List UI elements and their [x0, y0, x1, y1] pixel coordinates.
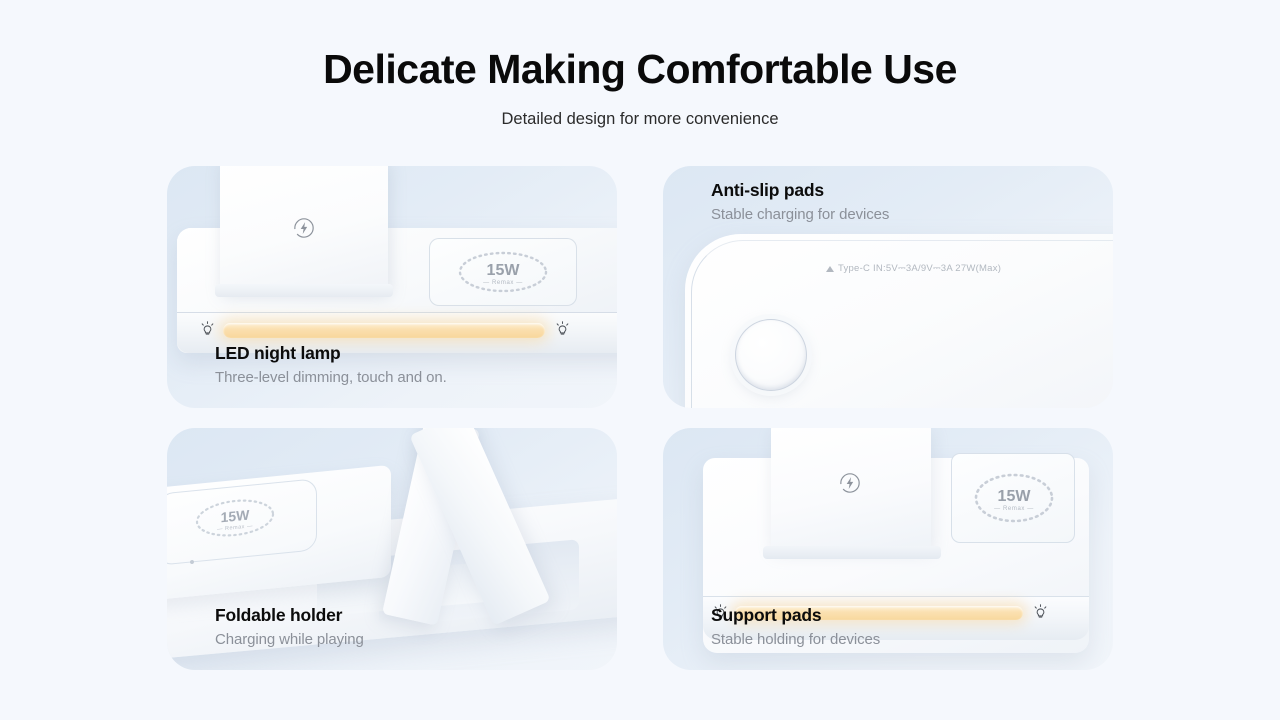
phone-stand-foot — [215, 284, 393, 297]
bulb-icon — [200, 321, 215, 338]
card-caption: Foldable holder Charging while playing — [215, 605, 364, 648]
pad-15w-logo: 15W — Remax — — [967, 468, 1061, 528]
page-header: Delicate Making Comfortable Use Detailed… — [0, 0, 1280, 129]
feature-card-anti-slip-pads[interactable]: Anti-slip pads Stable charging for devic… — [663, 166, 1113, 408]
card-title: Foldable holder — [215, 605, 364, 626]
svg-text:— Remax —: — Remax — — [483, 280, 523, 286]
card-caption: LED night lamp Three-level dimming, touc… — [215, 343, 447, 386]
anti-slip-foot-pad — [735, 319, 807, 391]
feature-card-foldable-holder[interactable]: 15W — Remax — Foldable holder Charging w… — [167, 428, 617, 670]
card-caption: Support pads Stable holding for devices — [711, 605, 880, 648]
page-title: Delicate Making Comfortable Use — [0, 46, 1280, 93]
pad-15w-logo: 15W — Remax — — [449, 248, 557, 296]
card-title: LED night lamp — [215, 343, 447, 364]
svg-text:15W: 15W — [998, 488, 1032, 505]
feature-card-support-pads[interactable]: 15W — Remax — — [663, 428, 1113, 670]
svg-text:15W: 15W — [487, 262, 521, 279]
card-subtitle: Stable charging for devices — [711, 206, 889, 223]
card-subtitle: Stable holding for devices — [711, 631, 880, 648]
spec-label: Type-C IN:5V⎓3A/9V⎓3A 27W(Max) — [826, 263, 1001, 274]
led-light-bar — [223, 323, 545, 338]
page-subtitle: Detailed design for more convenience — [0, 110, 1280, 129]
svg-text:— Remax —: — Remax — — [994, 506, 1034, 512]
card-caption: Anti-slip pads Stable charging for devic… — [711, 180, 889, 223]
warning-triangle-icon — [826, 266, 834, 272]
feature-card-grid: 15W — Remax — — [167, 166, 1113, 666]
card-title: Support pads — [711, 605, 880, 626]
pad-15w-logo: 15W — Remax — — [187, 491, 283, 544]
card-subtitle: Three-level dimming, touch and on. — [215, 369, 447, 386]
bulb-icon — [1033, 604, 1048, 621]
card-subtitle: Charging while playing — [215, 631, 364, 648]
feature-card-led-night-lamp[interactable]: 15W — Remax — — [167, 166, 617, 408]
bulb-icon — [555, 321, 570, 338]
lightning-bolt-icon — [293, 217, 315, 239]
spec-text: Type-C IN:5V⎓3A/9V⎓3A 27W(Max) — [838, 263, 1001, 274]
card-title: Anti-slip pads — [711, 180, 889, 201]
svg-text:15W: 15W — [221, 507, 251, 526]
lightning-bolt-icon — [839, 472, 861, 494]
phone-stand-foot — [763, 546, 941, 559]
